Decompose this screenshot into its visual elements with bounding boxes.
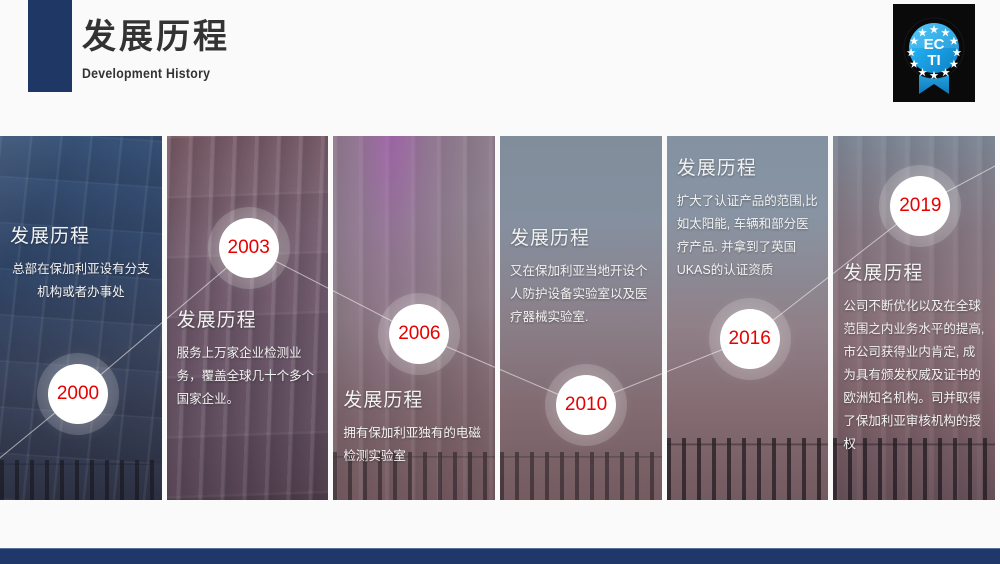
logo-text-line1: EC	[924, 36, 945, 53]
year-badge-2000[interactable]: 2000	[48, 364, 108, 424]
year-badge-2016[interactable]: 2016	[720, 309, 780, 369]
timeline-column-2006[interactable]: 2006 发展历程 拥有保加利亚独有的电磁检测实验室	[333, 136, 495, 500]
badge-icon: EC TI	[893, 4, 975, 102]
railing-silhouette	[500, 452, 662, 500]
footer-whitespace	[0, 500, 1000, 548]
column-heading: 发展历程	[843, 261, 985, 287]
column-body: 拥有保加利亚独有的电磁检测实验室	[343, 422, 485, 468]
year-badge-2006[interactable]: 2006	[389, 304, 449, 364]
column-heading: 发展历程	[177, 308, 319, 334]
column-body: 扩大了认证产品的范围,比如太阳能, 车辆和部分医疗产品. 并拿到了英国UKAS的…	[677, 190, 819, 282]
column-heading: 发展历程	[677, 156, 819, 182]
column-heading: 发展历程	[10, 224, 152, 250]
logo-text-line2: TI	[927, 52, 940, 69]
header-titles: 发展历程 Development History	[82, 16, 230, 82]
year-badge-2019[interactable]: 2019	[890, 176, 950, 236]
timeline-column-2016[interactable]: 发展历程 扩大了认证产品的范围,比如太阳能, 车辆和部分医疗产品. 并拿到了英国…	[667, 136, 829, 500]
year-badge-2003[interactable]: 2003	[219, 218, 279, 278]
year-badge-2010[interactable]: 2010	[556, 375, 616, 435]
column-text-block: 发展历程 又在保加利亚当地开设个人防护设备实验室以及医疗器械实验室.	[510, 226, 652, 329]
column-text-block: 发展历程 公司不断优化以及在全球范围之内业务水平的提高, 市公司获得业内肯定, …	[843, 261, 985, 456]
header-accent-bar	[28, 0, 72, 92]
column-heading: 发展历程	[343, 388, 485, 414]
timeline-column-2010[interactable]: 发展历程 又在保加利亚当地开设个人防护设备实验室以及医疗器械实验室. 2010	[500, 136, 662, 500]
column-text-block: 发展历程 总部在保加利亚设有分支机构或者办事处	[10, 224, 152, 304]
column-text-block: 发展历程 扩大了认证产品的范围,比如太阳能, 车辆和部分医疗产品. 并拿到了英国…	[677, 156, 819, 282]
column-body: 公司不断优化以及在全球范围之内业务水平的提高, 市公司获得业内肯定, 成为具有颁…	[843, 295, 985, 456]
column-body: 又在保加利亚当地开设个人防护设备实验室以及医疗器械实验室.	[510, 260, 652, 329]
timeline-column-2003[interactable]: 2003 发展历程 服务上万家企业检测业务，覆盖全球几十个多个国家企业。	[167, 136, 329, 500]
column-body: 服务上万家企业检测业务，覆盖全球几十个多个国家企业。	[177, 342, 319, 411]
column-tint-overlay	[0, 136, 162, 500]
slide-header: 发展历程 Development History	[0, 0, 1000, 136]
timeline-panel: 发展历程 总部在保加利亚设有分支机构或者办事处 2000 2003 发展历程 服…	[0, 136, 1000, 500]
column-body: 总部在保加利亚设有分支机构或者办事处	[10, 258, 152, 304]
timeline-column-2019[interactable]: 2019 发展历程 公司不断优化以及在全球范围之内业务水平的提高, 市公司获得业…	[833, 136, 995, 500]
railing-silhouette	[0, 460, 162, 500]
column-text-block: 发展历程 拥有保加利亚独有的电磁检测实验室	[343, 388, 485, 468]
timeline-column-2000[interactable]: 发展历程 总部在保加利亚设有分支机构或者办事处 2000	[0, 136, 162, 500]
column-heading: 发展历程	[510, 226, 652, 252]
ecti-badge-logo: EC TI	[893, 4, 975, 102]
column-text-block: 发展历程 服务上万家企业检测业务，覆盖全球几十个多个国家企业。	[177, 308, 319, 411]
page-title: 发展历程	[82, 16, 230, 58]
page-subtitle: Development History	[82, 64, 212, 82]
railing-silhouette	[667, 438, 829, 500]
footer-accent-bar	[0, 548, 1000, 564]
